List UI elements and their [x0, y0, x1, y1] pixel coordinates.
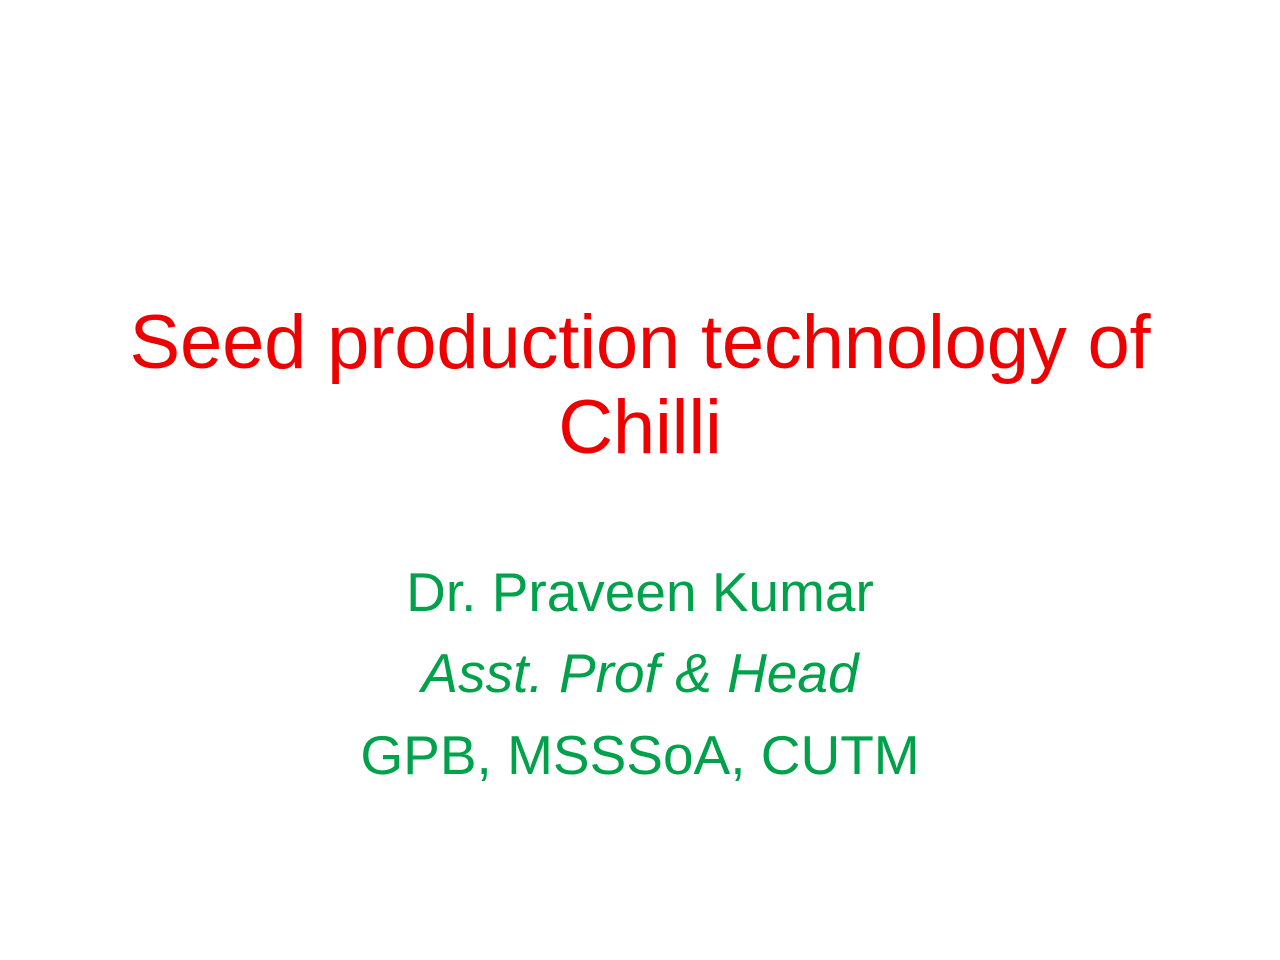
presentation-slide: Seed production technology of Chilli Dr.… [0, 0, 1280, 960]
subtitle-placeholder[interactable]: Dr. Praveen Kumar Asst. Prof & Head GPB,… [160, 552, 1120, 796]
title-placeholder[interactable]: Seed production technology of Chilli [96, 300, 1184, 470]
subtitle-line-affiliation: GPB, MSSSoA, CUTM [160, 715, 1120, 796]
subtitle-line-designation: Asst. Prof & Head [160, 633, 1120, 714]
subtitle-line-author: Dr. Praveen Kumar [160, 552, 1120, 633]
slide-title: Seed production technology of Chilli [96, 300, 1184, 470]
